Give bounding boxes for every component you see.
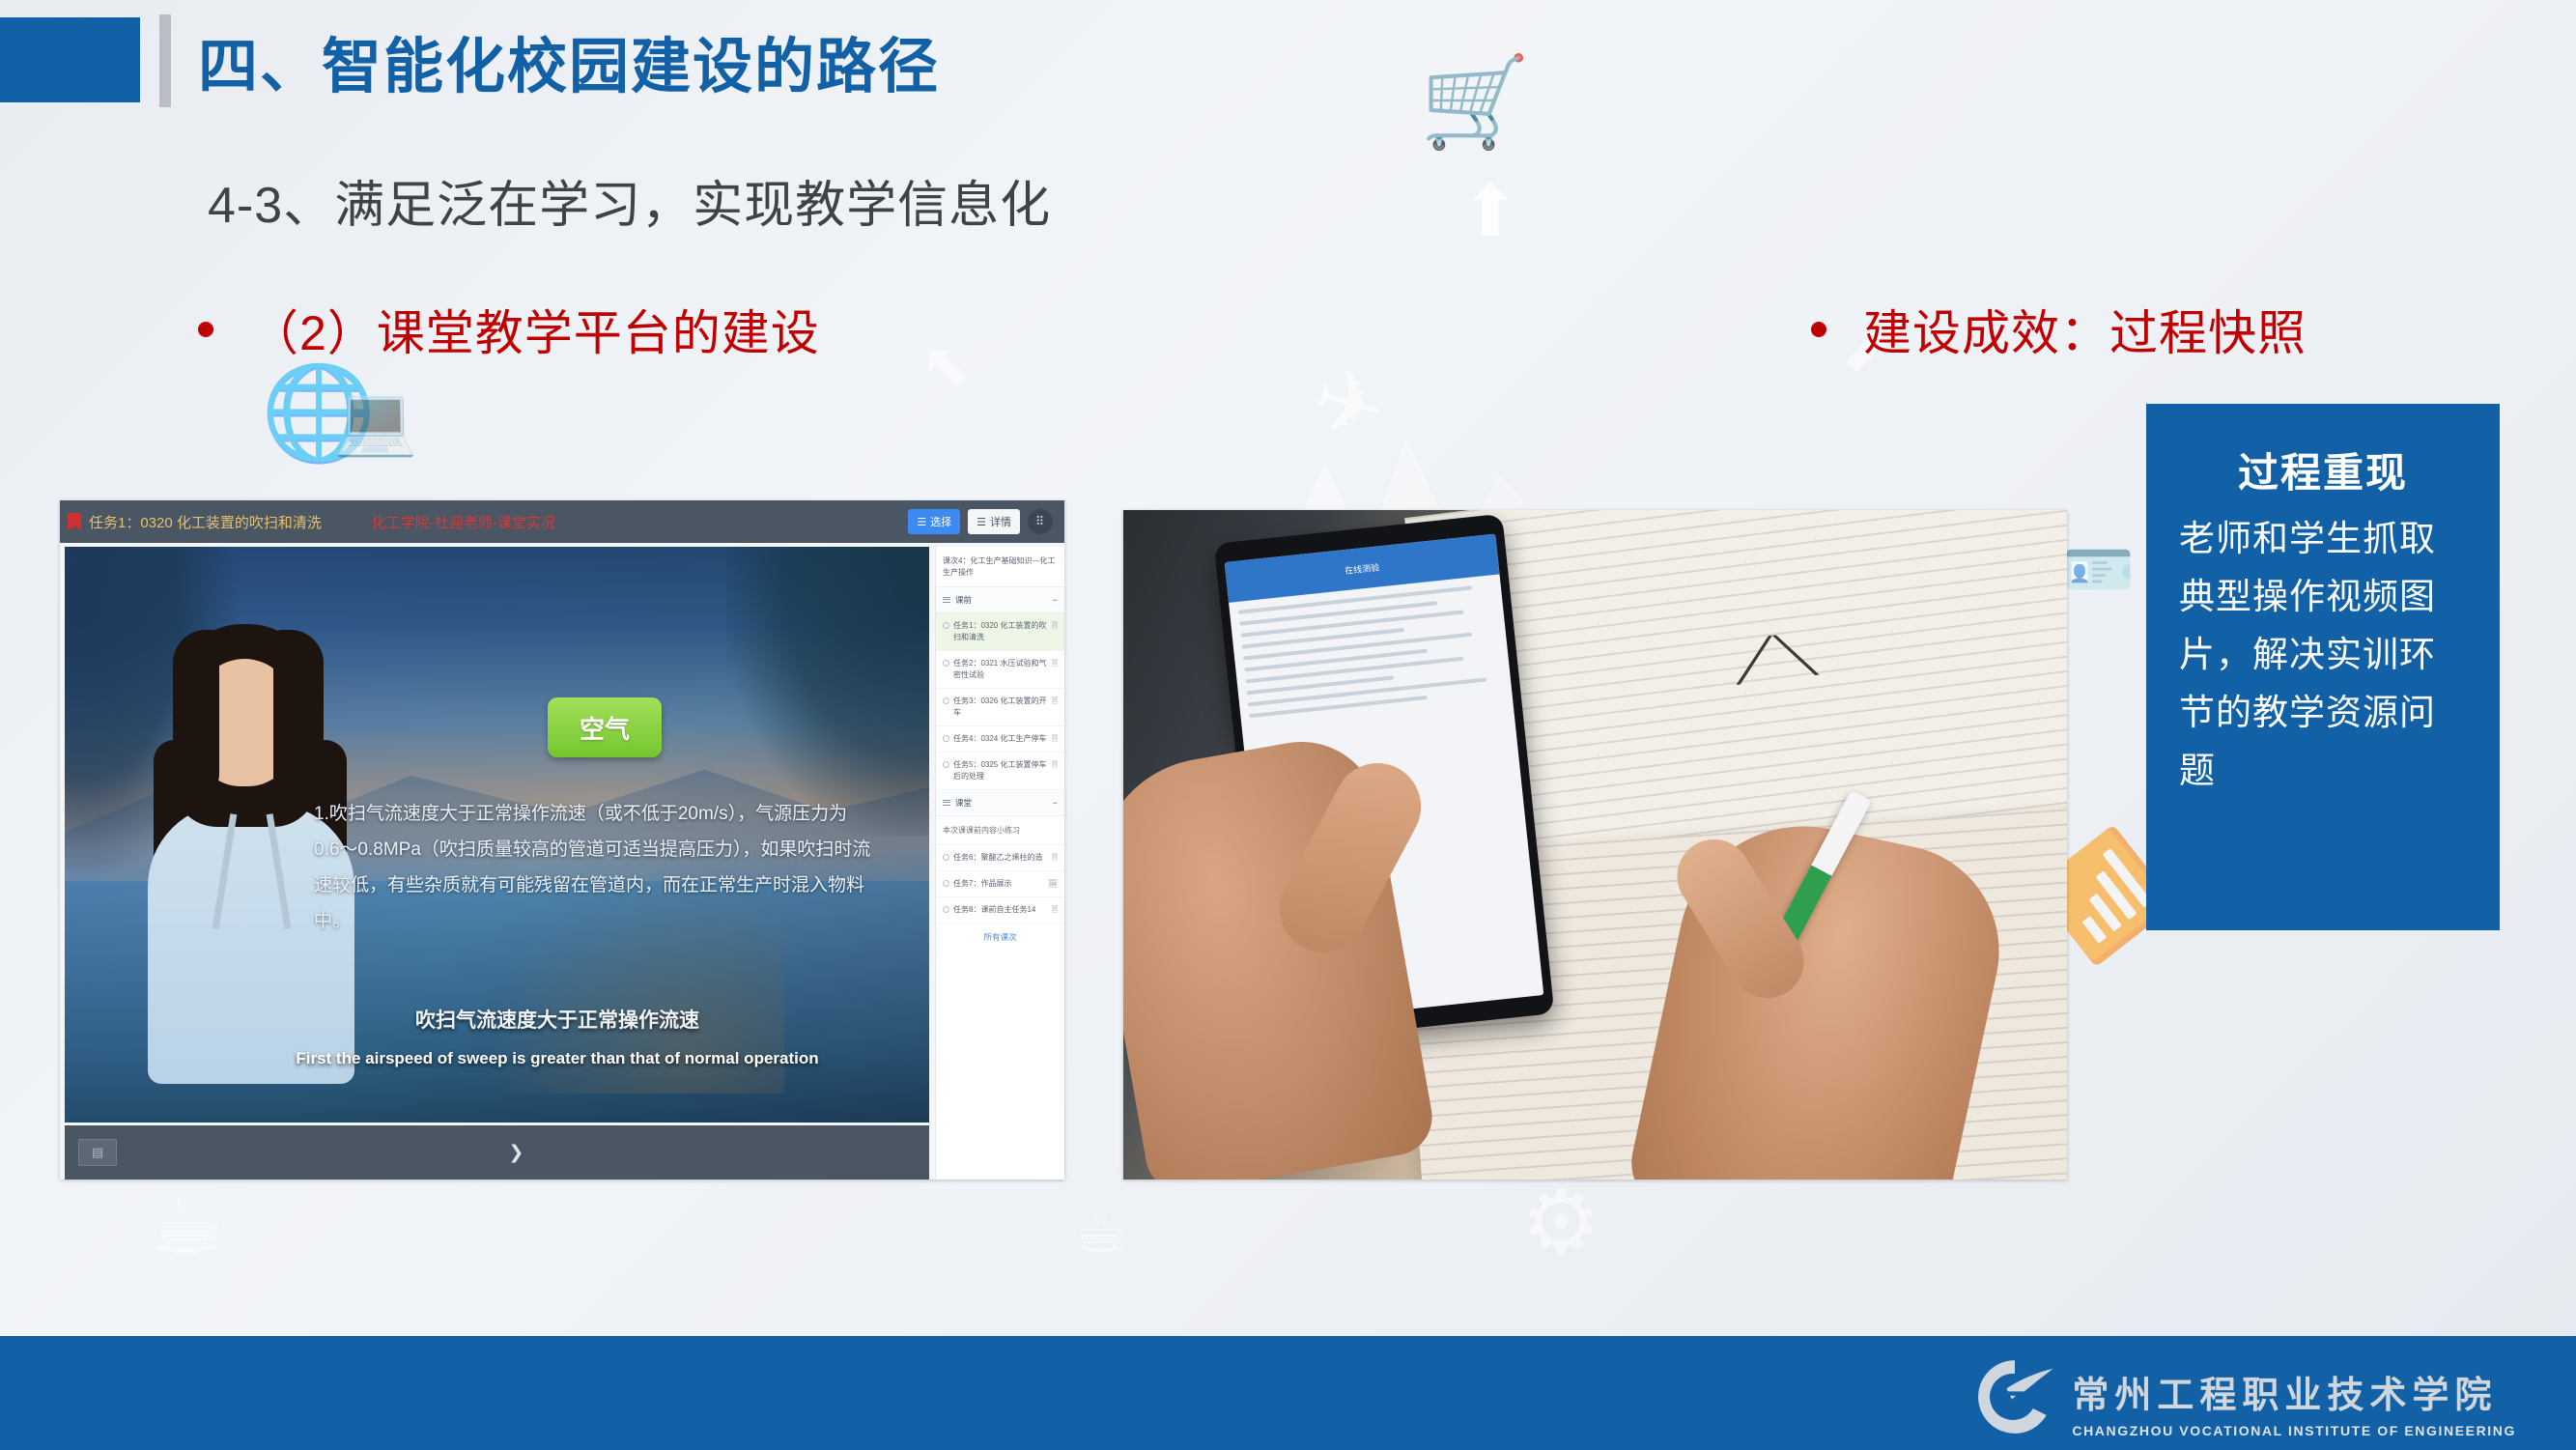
- title-divider: [159, 14, 171, 107]
- document-icon: 🗎: [1052, 696, 1058, 707]
- task-label: 任务5：0325 化工装置停车后的处理: [953, 759, 1048, 782]
- more-dots-icon[interactable]: ⠿: [1028, 509, 1053, 534]
- platform-class-note: 化工学院-杜迎老师-课堂实况: [372, 512, 555, 532]
- document-icon: 🗎: [1052, 733, 1058, 745]
- collapse-icon[interactable]: −: [1053, 595, 1058, 605]
- coffee-cup-icon: ☕: [150, 1183, 224, 1266]
- logo-chinese-name: 常州工程职业技术学院: [2072, 1365, 2497, 1418]
- classroom-photo: ⟋⟍ 在线测验: [1123, 510, 2067, 1180]
- platform-topbar-actions: ☰ 选择 ☰ 详情 ⠿: [908, 509, 1057, 534]
- course-outline-panel[interactable]: 课次4：化工生产基础知识—化工生产操作 课前 − 任务1：0320 化工装置的吹…: [935, 547, 1064, 1180]
- task-radio-icon[interactable]: [943, 735, 949, 742]
- list-item[interactable]: 任务7：作品展示 🖼: [936, 871, 1064, 897]
- gear-icon: ⚙: [1521, 1179, 1600, 1267]
- video-controls-bar: ▤ ❯: [65, 1125, 929, 1180]
- bullet-dot-icon: [1811, 322, 1826, 337]
- presenter-hair-front-left: [173, 630, 219, 799]
- task-radio-icon[interactable]: [943, 622, 949, 629]
- bullet-item-right: 建设成效：过程快照: [1811, 295, 2307, 364]
- phone-app-content: [1229, 574, 1514, 735]
- id-card-icon: 🪪: [2062, 541, 2135, 599]
- document-icon: 🗎: [1052, 620, 1058, 632]
- hamburger-icon: [943, 597, 950, 603]
- up-arrow-icon: ⬆: [909, 329, 984, 405]
- coffee-cup-icon: ☕: [1072, 1198, 1129, 1262]
- list-item[interactable]: 任务1：0320 化工装置的吹扫和清洗 🗎: [936, 613, 1064, 651]
- task-radio-icon[interactable]: [943, 906, 949, 913]
- video-thumbnail-icon[interactable]: ▤: [78, 1139, 117, 1166]
- callout-panel: 过程重现 老师和学生抓取典型操作视频图片，解决实训环节的教学资源问题: [2146, 404, 2500, 763]
- cvie-swoosh-logo-icon: [1973, 1355, 2056, 1438]
- task-label: 任务8：课前自主任务14: [953, 904, 1048, 916]
- document-icon: 🗎: [1052, 852, 1058, 864]
- bookmark-flag-icon: [68, 513, 81, 530]
- air-label-chip: 空气: [548, 697, 662, 757]
- list-item[interactable]: 任务3：0326 化工装置的开车 🗎: [936, 689, 1064, 726]
- list-item[interactable]: 任务4：0324 化工生产停车 🗎: [936, 726, 1064, 753]
- select-button[interactable]: ☰ 选择: [908, 509, 960, 534]
- video-player[interactable]: 空气 1.吹扫气流速度大于正常操作流速（或不低于20m/s），气源压力为 0.6…: [65, 547, 929, 1123]
- practice-note: 本次课课前内容小练习: [936, 816, 1064, 845]
- video-slide-paragraph: 1.吹扫气流速度大于正常操作流速（或不低于20m/s），气源压力为 0.6～0.…: [314, 796, 874, 939]
- platform-task-title: 任务1：0320 化工装置的吹扫和清洗: [89, 512, 322, 532]
- task-label: 任务2：0321 水压试验和气密性试验: [953, 658, 1048, 681]
- chevron-right-icon[interactable]: ❯: [503, 1139, 530, 1166]
- video-subtitle-english: First the airspeed of sweep is greater t…: [210, 1049, 905, 1068]
- task-radio-icon[interactable]: [943, 761, 949, 768]
- bullet-right-label: 建设成效：过程快照: [1863, 295, 2307, 364]
- bullet-left-label: （2）课堂教学平台的建设: [250, 295, 820, 364]
- hand-drawn-diagram: ⟋⟍: [1696, 588, 1855, 730]
- list-icon: ☰: [917, 516, 926, 528]
- task-label: 任务6：聚酸乙之烯柱的造: [953, 852, 1048, 864]
- section-pre-label: 课前: [955, 594, 972, 606]
- section-class-label: 课堂: [955, 797, 972, 809]
- globe-icon: 🌐: [261, 367, 377, 460]
- document-icon: 🗎: [1052, 759, 1058, 771]
- teaching-platform-screenshot: 任务1：0320 化工装置的吹扫和清洗 化工学院-杜迎老师-课堂实况 ☰ 选择 …: [60, 500, 1064, 1180]
- task-label: 任务3：0326 化工装置的开车: [953, 696, 1048, 719]
- list-icon: ☰: [977, 516, 986, 528]
- list-item[interactable]: 任务8：课前自主任务14 🗎: [936, 897, 1064, 924]
- callout-body: 老师和学生抓取典型操作视频图片，解决实训环节的教学资源问题: [2179, 510, 2469, 800]
- list-item[interactable]: 任务6：聚酸乙之烯柱的造 🗎: [936, 845, 1064, 871]
- select-button-label: 选择: [930, 514, 951, 529]
- task-label: 任务4：0324 化工生产停车: [953, 733, 1048, 745]
- section-header-pre[interactable]: 课前 −: [936, 587, 1064, 613]
- task-radio-icon[interactable]: [943, 660, 949, 667]
- section-header-class[interactable]: 课堂 −: [936, 790, 1064, 816]
- course-header: 课次4：化工生产基础知识—化工生产操作: [936, 547, 1064, 587]
- document-icon: 🗎: [1052, 658, 1058, 669]
- task-label: 任务7：作品展示: [953, 878, 1044, 890]
- slide-title-bar: 四、智能化校园建设的路径: [0, 10, 1159, 116]
- slide-subtitle: 4-3、满足泛在学习，实现教学信息化: [208, 164, 1051, 237]
- task-radio-icon[interactable]: [943, 697, 949, 704]
- presenter-hair-front-right: [273, 630, 324, 809]
- task-radio-icon[interactable]: [943, 854, 949, 861]
- callout-title: 过程重现: [2146, 441, 2500, 499]
- title-accent-block: [0, 17, 140, 102]
- detail-button[interactable]: ☰ 详情: [968, 509, 1020, 534]
- video-subtitle-chinese: 吹扫气流速度大于正常操作流速: [258, 1005, 857, 1034]
- institution-logo: 常州工程职业技术学院 CHANGZHOU VOCATIONAL INSTITUT…: [1973, 1355, 2516, 1438]
- bullet-dot-icon: [198, 322, 213, 337]
- list-item[interactable]: 任务2：0321 水压试验和气密性试验 🗎: [936, 651, 1064, 689]
- platform-topbar: 任务1：0320 化工装置的吹扫和清洗 化工学院-杜迎老师-课堂实况 ☰ 选择 …: [60, 500, 1064, 543]
- logo-text-group: 常州工程职业技术学院 CHANGZHOU VOCATIONAL INSTITUT…: [2072, 1365, 2516, 1438]
- task-label: 任务1：0320 化工装置的吹扫和清洗: [953, 620, 1048, 643]
- image-icon: 🖼: [1048, 878, 1058, 890]
- up-arrow-icon: ⬆: [1460, 176, 1520, 247]
- footer-bar: 常州工程职业技术学院 CHANGZHOU VOCATIONAL INSTITUT…: [0, 1336, 2576, 1450]
- paper-plane-icon: ✈: [1303, 355, 1395, 456]
- detail-button-label: 详情: [990, 514, 1011, 529]
- document-icon: 🗎: [1052, 904, 1058, 916]
- content-line: [1244, 649, 1427, 672]
- task-radio-icon[interactable]: [943, 880, 949, 887]
- content-line: [1239, 601, 1437, 626]
- list-item[interactable]: 任务5：0325 化工装置停车后的处理 🗎: [936, 753, 1064, 790]
- shopping-cart-icon: 🛒: [1420, 58, 1531, 147]
- hamburger-icon: [943, 800, 950, 806]
- laptop-icon: 💻: [333, 386, 417, 454]
- collapse-icon[interactable]: −: [1053, 798, 1058, 808]
- logo-english-name: CHANGZHOU VOCATIONAL INSTITUTE OF ENGINE…: [2072, 1423, 2516, 1438]
- bullet-item-left: （2）课堂教学平台的建设: [198, 295, 820, 364]
- all-lessons-link[interactable]: 所有课次: [936, 924, 1064, 951]
- page-title: 四、智能化校园建设的路径: [198, 17, 940, 104]
